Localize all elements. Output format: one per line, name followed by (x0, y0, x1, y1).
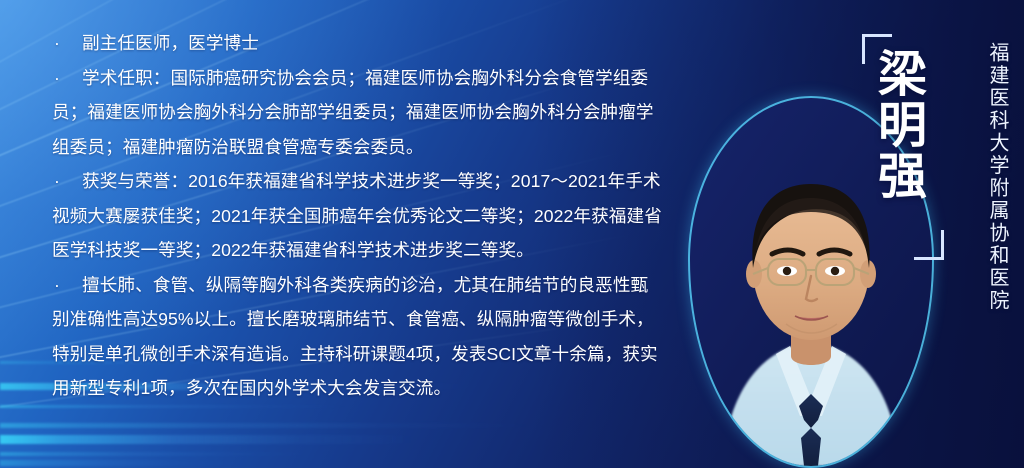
light-streak (0, 423, 655, 428)
bio-line: ·副主任医师，医学博士 (52, 26, 662, 61)
doctor-name-block: 梁明强 (862, 34, 940, 244)
bio-line: ·擅长肺、食管、纵隔等胸外科各类疾病的诊治，尤其在肺结节的良恶性甄别准确性高达9… (52, 268, 662, 406)
doctor-profile-card: ·副主任医师，医学博士 ·学术任职：国际肺癌研究协会会员；福建医师协会胸外科分会… (0, 0, 1024, 468)
bio-line-text: 擅长肺、食管、纵隔等胸外科各类疾病的诊治，尤其在肺结节的良恶性甄别准确性高达95… (52, 275, 658, 399)
bullet-marker: · (52, 61, 82, 96)
light-streak (0, 452, 389, 456)
biography-text: ·副主任医师，医学博士 ·学术任职：国际肺癌研究协会会员；福建医师协会胸外科分会… (52, 26, 662, 406)
bullet-marker: · (52, 164, 82, 199)
bullet-marker: · (52, 26, 82, 61)
bio-line-text: 获奖与荣誉：2016年获福建省科学技术进步奖一等奖；2017～2021年手术视频… (52, 171, 662, 260)
bio-line: ·学术任职：国际肺癌研究协会会员；福建医师协会胸外科分会食管学组委员；福建医师协… (52, 61, 662, 165)
institution-name: 福建医科大学附属协和医院 (984, 42, 1010, 312)
bio-line: ·获奖与荣誉：2016年获福建省科学技术进步奖一等奖；2017～2021年手术视… (52, 164, 662, 268)
light-streak (0, 460, 307, 466)
bio-line-text: 副主任医师，医学博士 (82, 33, 259, 53)
bullet-marker: · (52, 268, 82, 303)
bio-line-text: 学术任职：国际肺癌研究协会会员；福建医师协会胸外科分会食管学组委员；福建医师协会… (52, 68, 654, 157)
doctor-name: 梁明强 (872, 48, 922, 201)
bracket-bottom-right-icon (914, 230, 944, 260)
light-streak (0, 435, 512, 444)
